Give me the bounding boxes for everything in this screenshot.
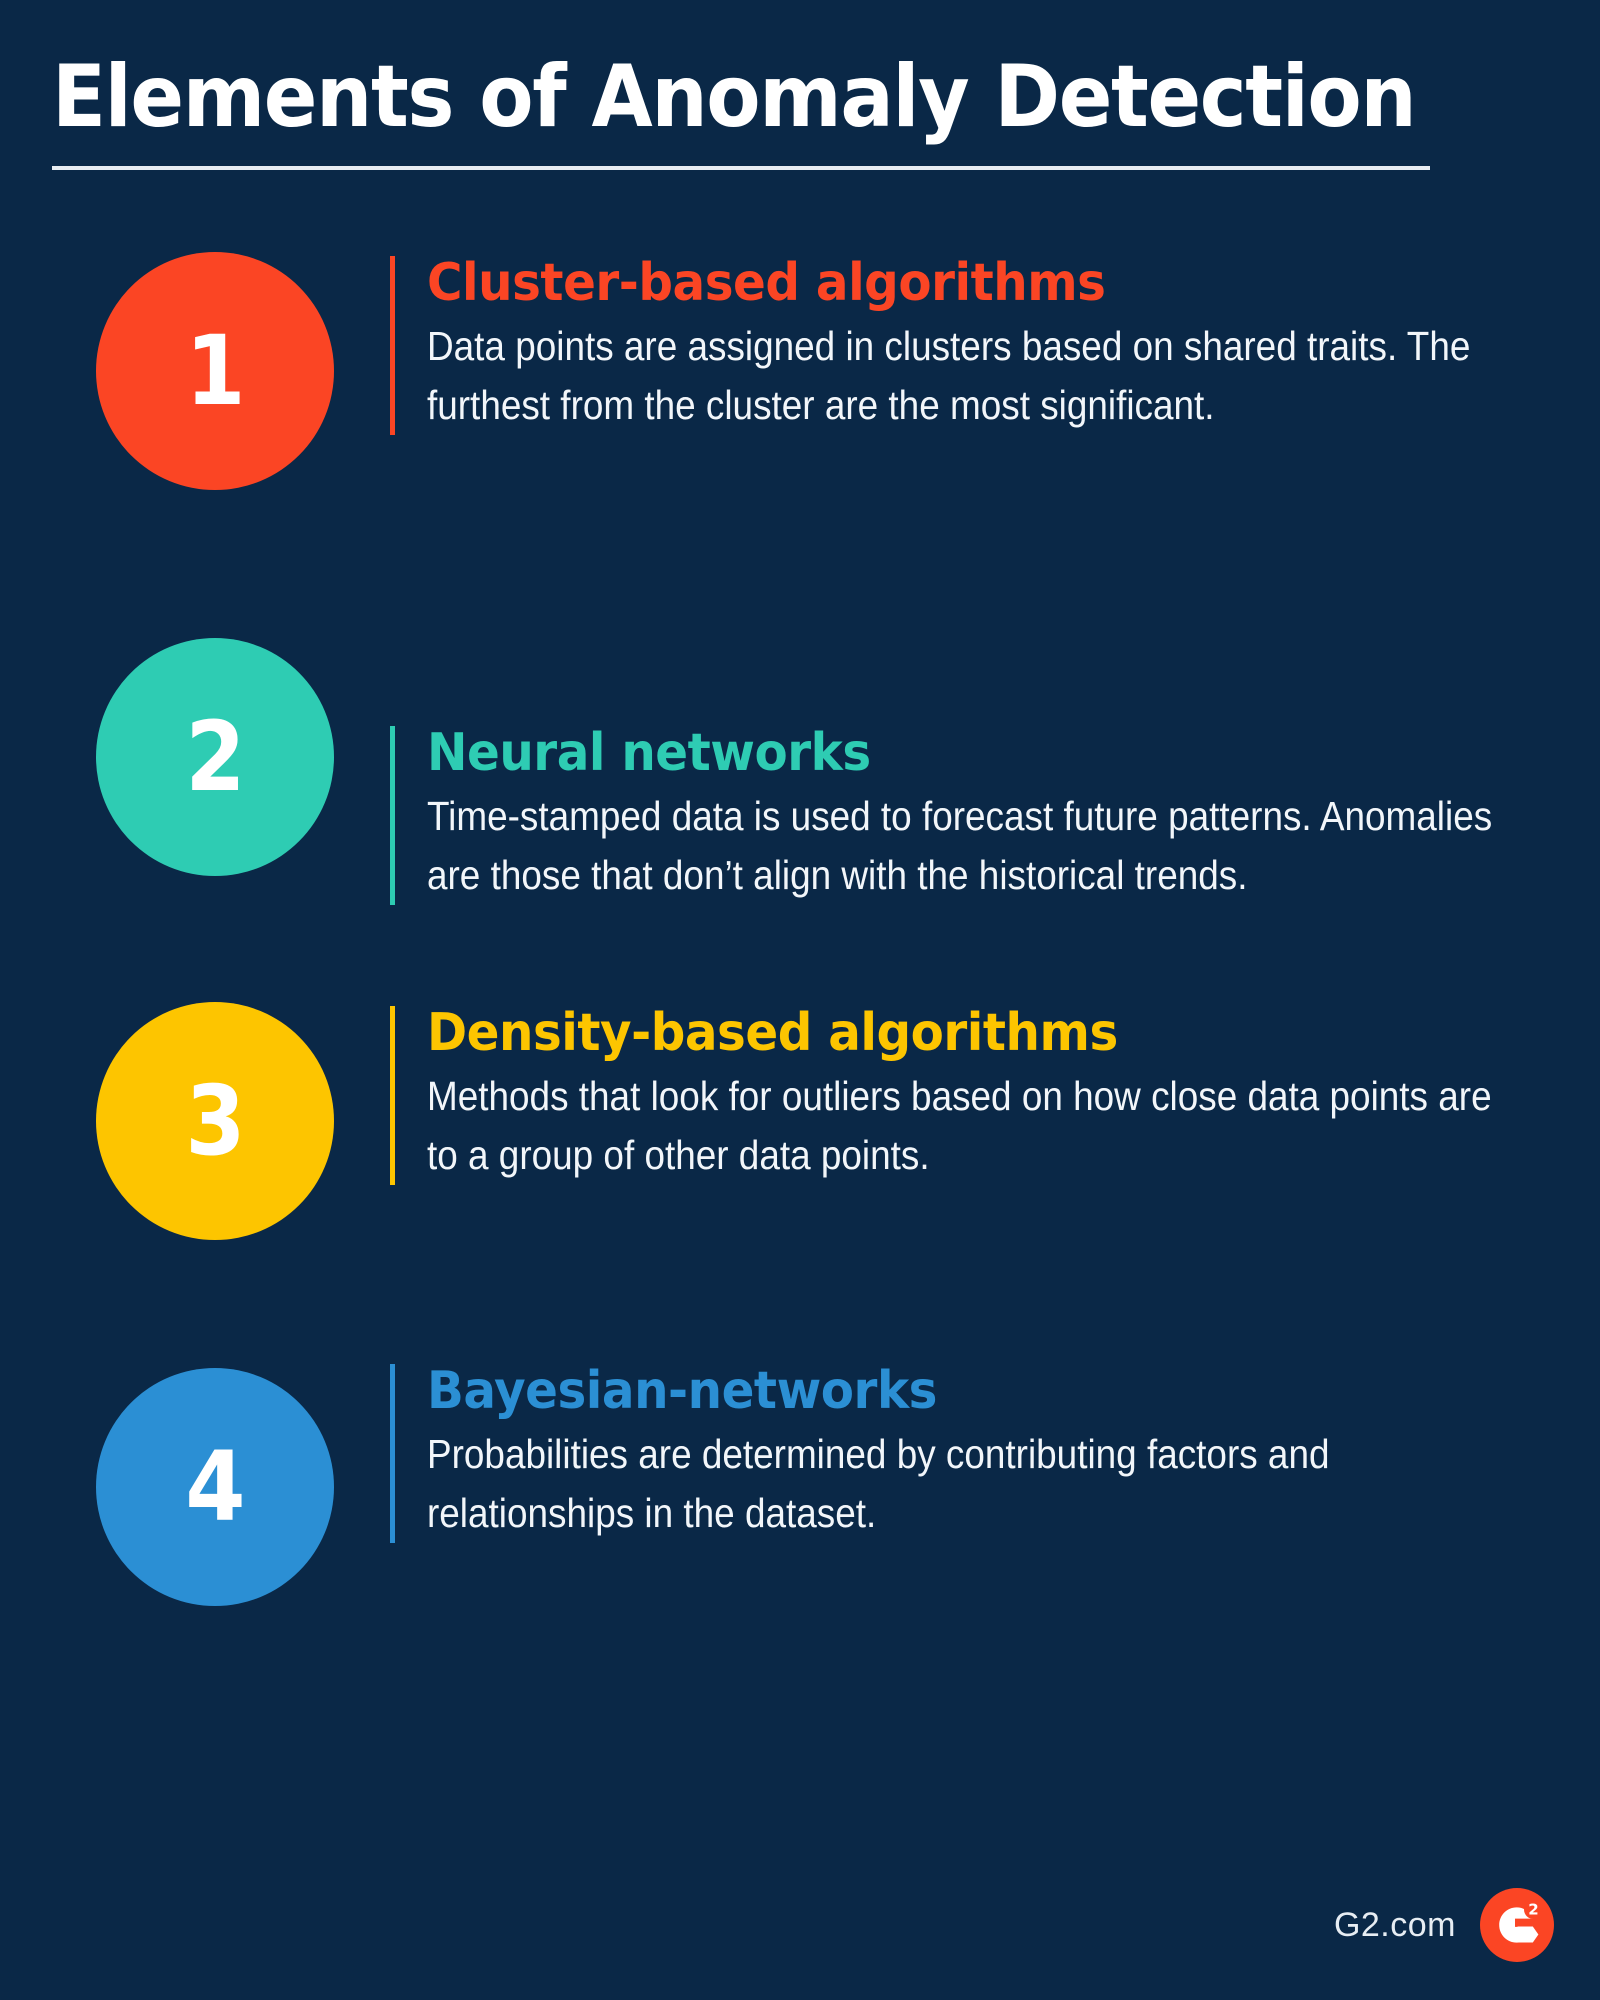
brand-label: G2.com xyxy=(1334,1906,1456,1945)
accent-divider xyxy=(390,726,395,905)
brand-footer[interactable]: G2.com 2 xyxy=(1334,1888,1554,1962)
list-item-text: Neural networks Time-stamped data is use… xyxy=(427,726,1600,905)
g2-logo-icon: 2 xyxy=(1480,1888,1554,1962)
item-description: Methods that look for outliers based on … xyxy=(427,1067,1509,1185)
list-item: 4 Bayesian-networks Probabilities are de… xyxy=(0,1342,1600,1704)
item-description: Data points are assigned in clusters bas… xyxy=(427,317,1509,435)
step-number: 2 xyxy=(185,709,245,805)
accent-divider xyxy=(390,1006,395,1185)
item-heading: Bayesian-networks xyxy=(427,1364,1434,1419)
item-heading: Neural networks xyxy=(427,726,1434,781)
infographic-poster: Elements of Anomaly Detection 1 Cluster-… xyxy=(0,0,1600,2000)
list-item-body: Density-based algorithms Methods that lo… xyxy=(390,980,1600,1185)
list-item: 2 Neural networks Time-stamped data is u… xyxy=(0,608,1600,980)
step-badge-1: 1 xyxy=(96,252,334,490)
svg-text:2: 2 xyxy=(1528,1901,1538,1919)
step-number: 3 xyxy=(185,1073,245,1169)
step-badge-2: 2 xyxy=(96,638,334,876)
title-block: Elements of Anomaly Detection xyxy=(52,52,1432,170)
item-description: Probabilities are determined by contribu… xyxy=(427,1425,1509,1543)
accent-divider xyxy=(390,1364,395,1543)
title-divider xyxy=(52,166,1430,170)
item-heading: Cluster-based algorithms xyxy=(427,256,1434,311)
list-item: 3 Density-based algorithms Methods that … xyxy=(0,980,1600,1342)
list-item-text: Density-based algorithms Methods that lo… xyxy=(427,1006,1600,1185)
list-item-text: Bayesian-networks Probabilities are dete… xyxy=(427,1364,1600,1543)
list-item-body: Bayesian-networks Probabilities are dete… xyxy=(390,1342,1600,1543)
page-title: Elements of Anomaly Detection xyxy=(52,52,1322,142)
item-heading: Density-based algorithms xyxy=(427,1006,1434,1061)
accent-divider xyxy=(390,256,395,435)
step-badge-3: 3 xyxy=(96,1002,334,1240)
elements-list: 1 Cluster-based algorithms Data points a… xyxy=(0,246,1600,1704)
list-item-text: Cluster-based algorithms Data points are… xyxy=(427,256,1600,435)
step-number: 1 xyxy=(185,323,245,419)
list-item-body: Cluster-based algorithms Data points are… xyxy=(390,246,1600,435)
list-item-body: Neural networks Time-stamped data is use… xyxy=(390,608,1600,905)
step-number: 4 xyxy=(185,1439,245,1535)
step-badge-4: 4 xyxy=(96,1368,334,1606)
item-description: Time-stamped data is used to forecast fu… xyxy=(427,787,1509,905)
list-item: 1 Cluster-based algorithms Data points a… xyxy=(0,246,1600,608)
